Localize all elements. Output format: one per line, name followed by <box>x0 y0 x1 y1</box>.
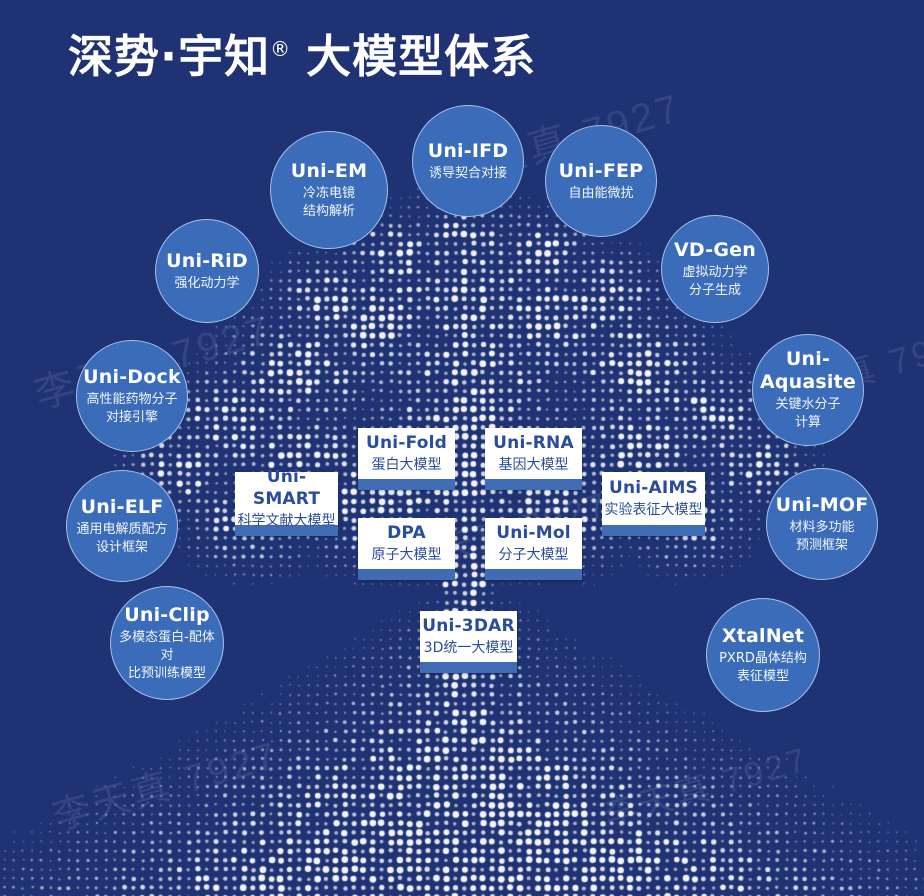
model-name: Uni- Aquasite <box>760 348 856 394</box>
model-description: 诱导契合对接 <box>429 165 507 183</box>
model-name: Uni-RNA <box>493 432 574 454</box>
model-description: 3D统一大模型 <box>424 638 514 658</box>
page-title: 深势·宇知®大模型体系 <box>68 18 536 88</box>
model-name: Uni-EM <box>291 160 367 183</box>
model-name: Uni-IFD <box>428 140 509 163</box>
model-circle-xtalnet[interactable]: XtalNetPXRD晶体结构 表征模型 <box>706 598 820 712</box>
model-card-uni-fold[interactable]: Uni-Fold蛋白大模型 <box>358 428 455 490</box>
model-description: 蛋白大模型 <box>372 455 442 475</box>
model-name: Uni-FEP <box>559 160 644 183</box>
model-card-uni-aims[interactable]: Uni-AIMS实验表征大模型 <box>602 472 705 536</box>
model-card-dpa[interactable]: DPA原子大模型 <box>358 518 455 580</box>
watermark: 李天真 7927 <box>597 732 813 837</box>
model-circle-uni-rid[interactable]: Uni-RiD强化动力学 <box>155 219 259 323</box>
model-name: Uni-ELF <box>81 496 164 519</box>
model-circle-vd-gen[interactable]: VD-Gen虚拟动力学 分子生成 <box>661 215 769 323</box>
model-card-uni-3dar[interactable]: Uni-3DAR3D统一大模型 <box>420 611 517 673</box>
model-description: 虚拟动力学 分子生成 <box>682 264 747 300</box>
model-circle-uni-aquasite[interactable]: Uni- Aquasite关键水分子 计算 <box>752 334 864 446</box>
poster-root: 李天真 7927 李天真 7927 李天真 7927 李天真 7927 李天真 … <box>0 0 924 896</box>
model-description: 强化动力学 <box>174 275 239 293</box>
model-name: XtalNet <box>722 625 804 648</box>
model-name: Uni-Mol <box>496 522 571 544</box>
model-description: 原子大模型 <box>372 545 442 565</box>
model-description: 实验表征大模型 <box>605 500 703 520</box>
model-name: Uni-Fold <box>366 432 447 454</box>
model-circle-uni-em[interactable]: Uni-EM冷冻电镜 结构解析 <box>270 131 388 249</box>
model-card-uni-smart[interactable]: Uni-SMART科学文献大模型 <box>235 472 338 536</box>
model-circle-uni-mof[interactable]: Uni-MOF材料多功能 预测框架 <box>766 468 878 580</box>
title-suffix: 大模型体系 <box>306 30 536 83</box>
title-brand: 深势·宇知 <box>68 30 270 83</box>
model-description: 材料多功能 预测框架 <box>789 519 854 555</box>
model-description: 冷冻电镜 结构解析 <box>303 185 355 221</box>
model-name: Uni-Dock <box>83 366 181 389</box>
model-description: 自由能微扰 <box>568 185 633 203</box>
model-circle-uni-ifd[interactable]: Uni-IFD诱导契合对接 <box>412 105 524 217</box>
model-name: Uni-Clip <box>124 604 210 627</box>
model-name: Uni-RiD <box>166 250 248 273</box>
model-description: 科学文献大模型 <box>238 511 336 531</box>
model-name: Uni-SMART <box>235 466 338 510</box>
model-name: Uni-MOF <box>776 494 869 517</box>
model-name: DPA <box>387 522 426 544</box>
model-circle-uni-fep[interactable]: Uni-FEP自由能微扰 <box>545 125 657 237</box>
model-name: VD-Gen <box>674 239 756 262</box>
model-circle-uni-elf[interactable]: Uni-ELF通用电解质配方 设计框架 <box>66 470 178 582</box>
model-description: 基因大模型 <box>499 455 569 475</box>
model-name: Uni-3DAR <box>422 615 515 637</box>
model-description: 多模态蛋白-配体对 比预训练模型 <box>115 629 219 683</box>
registered-trademark-icon: ® <box>270 37 290 61</box>
model-card-uni-mol[interactable]: Uni-Mol分子大模型 <box>485 518 582 580</box>
watermark: 李天真 7927 <box>45 724 284 841</box>
model-description: PXRD晶体结构 表征模型 <box>719 650 807 686</box>
model-card-uni-rna[interactable]: Uni-RNA基因大模型 <box>485 428 582 490</box>
model-circle-uni-clip[interactable]: Uni-Clip多模态蛋白-配体对 比预训练模型 <box>110 586 224 700</box>
model-description: 关键水分子 计算 <box>775 396 840 432</box>
model-description: 高性能药物分子 对接引擎 <box>86 391 177 427</box>
model-circle-uni-dock[interactable]: Uni-Dock高性能药物分子 对接引擎 <box>76 340 188 452</box>
model-description: 分子大模型 <box>499 545 569 565</box>
model-name: Uni-AIMS <box>609 477 698 499</box>
model-description: 通用电解质配方 设计框架 <box>76 521 167 557</box>
